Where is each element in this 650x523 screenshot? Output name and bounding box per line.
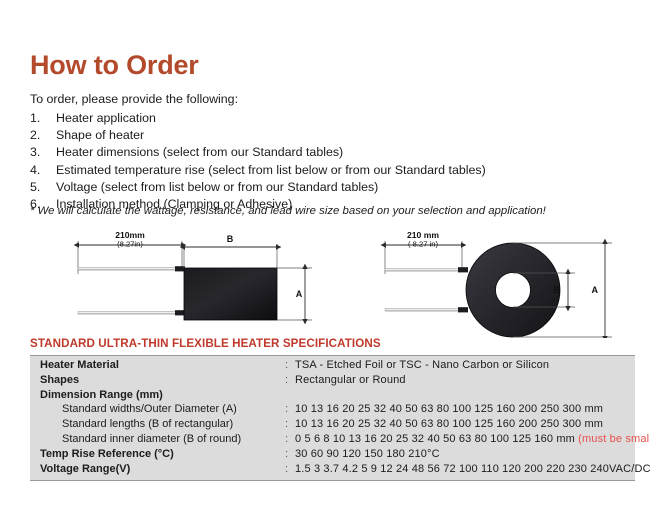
spec-row-value: TSA - Etched Foil or TSC - Nano Carbon o… bbox=[295, 359, 635, 371]
table-row: Voltage Range(V) : 1.5 3 3.7 4.2 5 9 12 … bbox=[30, 463, 635, 478]
round-lead-length-label: 210 mm bbox=[407, 230, 439, 240]
list-item-label: Voltage (select from list below or from … bbox=[56, 179, 590, 196]
spec-row-label: Heater Material bbox=[30, 359, 285, 371]
calculation-note: * We will calculate the wattage, resista… bbox=[30, 205, 546, 217]
list-item-label: Estimated temperature rise (select from … bbox=[56, 162, 590, 179]
round-inner-label-b: B bbox=[554, 285, 561, 295]
spec-row-label: Dimension Range (mm) bbox=[30, 389, 285, 401]
intro-text: To order, please provide the following: bbox=[30, 92, 238, 106]
list-item-number: 1. bbox=[30, 110, 56, 127]
spec-row-value: 10 13 16 20 25 32 40 50 63 80 100 125 16… bbox=[295, 418, 635, 430]
list-item-label: Shape of heater bbox=[56, 127, 590, 144]
list-item: 2. Shape of heater bbox=[30, 127, 590, 144]
table-row: Heater Material : TSA - Etched Foil or T… bbox=[30, 359, 635, 374]
spec-row-value-note: (must be smaller than A) bbox=[578, 433, 650, 445]
list-item-number: 3. bbox=[30, 144, 56, 161]
spec-row-value: Rectangular or Round bbox=[295, 374, 635, 386]
rect-lead-length-inches: (8.27in) bbox=[117, 240, 143, 249]
list-item: 5. Voltage (select from list below or fr… bbox=[30, 179, 590, 196]
table-row: Standard widths/Outer Diameter (A) : 10 … bbox=[30, 403, 635, 418]
round-lead-length-inches: ( 8.27 in) bbox=[408, 240, 438, 249]
table-row: Dimension Range (mm) bbox=[30, 389, 635, 404]
spec-row-colon: : bbox=[285, 359, 295, 371]
diagram-svg: 210mm (8.27in) B A bbox=[0, 228, 650, 338]
spec-row-colon: : bbox=[285, 374, 295, 386]
spec-row-value: 30 60 90 120 150 180 210°C bbox=[295, 448, 635, 460]
list-item-label: Heater dimensions (select from our Stand… bbox=[56, 144, 590, 161]
rect-height-label-a: A bbox=[296, 289, 303, 299]
list-item-number: 2. bbox=[30, 127, 56, 144]
rect-width-label-b: B bbox=[227, 234, 234, 244]
how-to-order-page: How to Order To order, please provide th… bbox=[0, 0, 650, 523]
list-item-number: 5. bbox=[30, 179, 56, 196]
list-item: 3. Heater dimensions (select from our St… bbox=[30, 144, 590, 161]
table-row: Shapes : Rectangular or Round bbox=[30, 374, 635, 389]
spec-row-label: Shapes bbox=[30, 374, 285, 386]
list-item-label: Heater application bbox=[56, 110, 590, 127]
spec-row-value-text: TSA - Etched Foil or TSC - Nano Carbon o… bbox=[295, 359, 549, 371]
spec-row-label: Standard widths/Outer Diameter (A) bbox=[30, 403, 285, 415]
heater-diagrams: 210mm (8.27in) B A bbox=[0, 228, 650, 338]
spec-row-colon: : bbox=[285, 403, 295, 415]
spec-row-value-text: 1.5 3 3.7 4.2 5 9 12 24 48 56 72 100 110… bbox=[295, 463, 650, 475]
table-row: Standard lengths (B of rectangular) : 10… bbox=[30, 418, 635, 433]
table-row: Standard inner diameter (B of round) : 0… bbox=[30, 433, 635, 448]
order-steps-list: 1. Heater application 2. Shape of heater… bbox=[30, 110, 590, 213]
spec-row-colon: : bbox=[285, 418, 295, 430]
spec-row-value: 0 5 6 8 10 13 16 20 25 32 40 50 63 80 10… bbox=[295, 433, 650, 445]
spec-row-value: 1.5 3 3.7 4.2 5 9 12 24 48 56 72 100 110… bbox=[295, 463, 650, 475]
list-item: 1. Heater application bbox=[30, 110, 590, 127]
spec-row-value-text: 10 13 16 20 25 32 40 50 63 80 100 125 16… bbox=[295, 418, 603, 430]
spec-row-colon: : bbox=[285, 448, 295, 460]
list-item: 4. Estimated temperature rise (select fr… bbox=[30, 162, 590, 179]
spec-row-label: Voltage Range(V) bbox=[30, 463, 285, 475]
rect-lead-length-label: 210mm bbox=[115, 230, 145, 240]
spec-row-colon: : bbox=[285, 463, 295, 475]
spec-row-label: Temp Rise Reference (°C) bbox=[30, 448, 285, 460]
round-outer-label-a: A bbox=[592, 285, 599, 295]
spec-table: Heater Material : TSA - Etched Foil or T… bbox=[30, 355, 635, 481]
spec-row-value-text: 30 60 90 120 150 180 210°C bbox=[295, 448, 440, 460]
spec-section-title: STANDARD ULTRA-THIN FLEXIBLE HEATER SPEC… bbox=[30, 337, 381, 350]
spec-row-value-text: Rectangular or Round bbox=[295, 374, 406, 386]
spec-row-value-text: 10 13 16 20 25 32 40 50 63 80 100 125 16… bbox=[295, 403, 603, 415]
list-item-number: 4. bbox=[30, 162, 56, 179]
spec-row-value: 10 13 16 20 25 32 40 50 63 80 100 125 16… bbox=[295, 403, 635, 415]
table-row: Temp Rise Reference (°C) : 30 60 90 120 … bbox=[30, 448, 635, 463]
page-title: How to Order bbox=[30, 52, 199, 79]
rectangular-heater-diagram: 210mm (8.27in) B A bbox=[78, 230, 312, 320]
spec-row-label: Standard inner diameter (B of round) bbox=[30, 433, 285, 445]
spec-row-value-text: 0 5 6 8 10 13 16 20 25 32 40 50 63 80 10… bbox=[295, 433, 578, 445]
spec-row-label: Standard lengths (B of rectangular) bbox=[30, 418, 285, 430]
spec-row-colon: : bbox=[285, 433, 295, 445]
round-heater-diagram: 210 mm ( 8.27 in) B A bbox=[385, 230, 612, 337]
